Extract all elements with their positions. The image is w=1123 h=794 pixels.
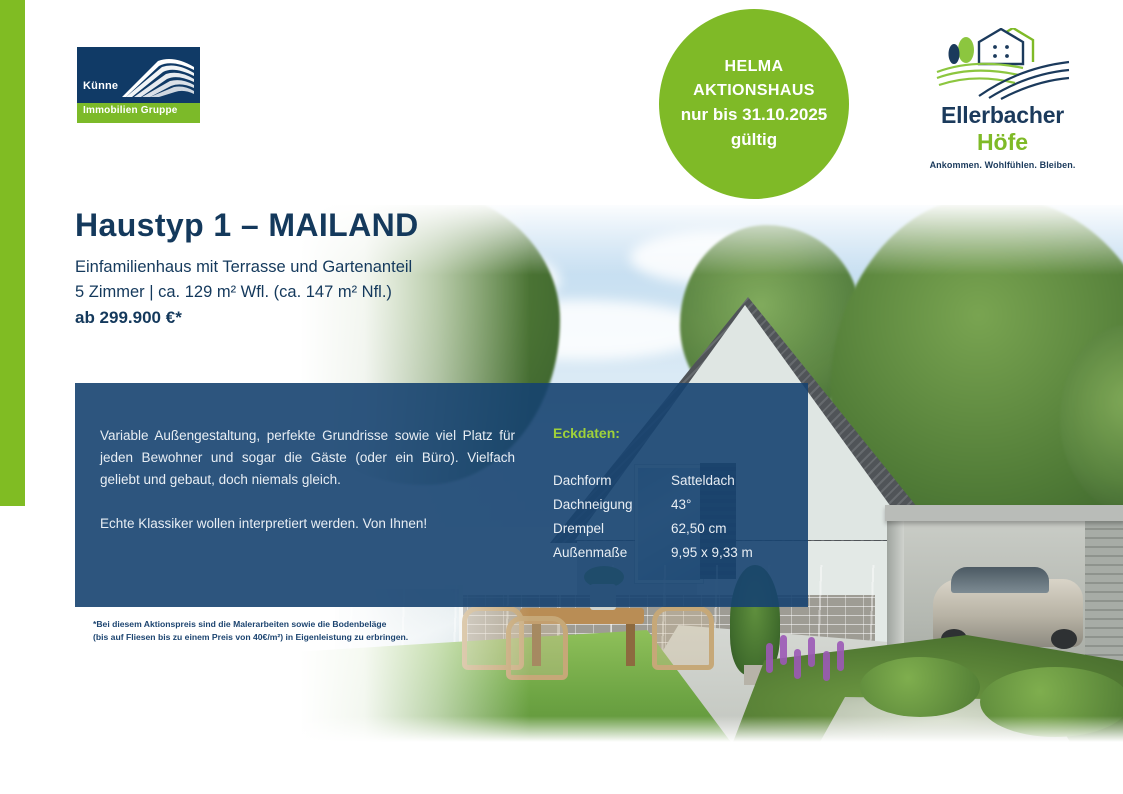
badge-line-4: gültig [731,131,777,149]
eckdaten-value: 9,95 x 9,33 m [671,541,753,565]
eckdaten-key: Dachneigung [553,493,671,517]
badge-line-1: HELMA [725,59,784,76]
flower [780,635,787,665]
ellerbacher-name-line1: Ellerbacher [921,102,1084,129]
photo-fade-bottom [300,716,1123,742]
ellerbacher-tagline: Ankommen. Wohlfühlen. Bleiben. [921,160,1084,170]
eckdaten-key: Außenmaße [553,541,671,565]
building-swoosh-icon [114,53,198,101]
description-paragraph-1: Variable Außengestaltung, perfekte Grund… [100,425,515,491]
eckdaten-table: Dachform Satteldach Dachneigung 43° Drem… [553,469,753,565]
carport-roof [885,505,1123,521]
description-text: Variable Außengestaltung, perfekte Grund… [100,425,515,534]
flower [766,643,773,673]
flyer-page: Künne Immobilien Gruppe HELMA AKTIONSHAU… [0,0,1123,794]
description-paragraph-2: Echte Klassiker wollen interpretiert wer… [100,513,515,535]
flower [808,637,815,667]
footnote: *Bei diesem Aktionspreis sind die Malera… [93,618,408,645]
ellerbacher-name-line2: Höfe [921,129,1084,156]
eckdaten-value: Satteldach [671,469,735,493]
eckdaten-title: Eckdaten: [553,425,620,441]
footnote-line-2: (bis auf Fliesen bis zu einem Preis von … [93,631,408,644]
badge-line-3: nur bis 31.10.2025 [681,106,827,124]
flower [837,641,844,671]
eckdaten-key: Dachform [553,469,671,493]
promo-badge[interactable]: HELMA AKTIONSHAUS nur bis 31.10.2025 gül… [659,9,849,199]
page-title: Haustyp 1 – MAILAND [75,207,419,244]
ellerbacher-hoefe-logo[interactable]: Ellerbacher Höfe Ankommen. Wohlfühlen. B… [921,28,1084,180]
table-row: Außenmaße 9,95 x 9,33 m [553,541,753,565]
house-specs: 5 Zimmer | ca. 129 m² Wfl. (ca. 147 m² N… [75,283,392,302]
house-subtitle: Einfamilienhaus mit Terrasse und Gartena… [75,258,412,277]
flower [794,649,801,679]
table-row: Drempel 62,50 cm [553,517,753,541]
eckdaten-value: 43° [671,493,691,517]
table-row: Dachform Satteldach [553,469,753,493]
kuenne-logo-subtitle: Immobilien Gruppe [83,105,178,116]
table-row: Dachneigung 43° [553,493,753,517]
flower [823,651,830,681]
car-windshield [951,567,1049,593]
garden-chair [652,606,714,670]
car-wheel [1051,629,1077,649]
info-panel: Variable Außengestaltung, perfekte Grund… [75,383,808,607]
kuenne-logo-name: Künne [83,80,118,92]
kuenne-logo[interactable]: Künne Immobilien Gruppe [77,47,200,123]
house-fields-icon [935,28,1071,100]
eckdaten-value: 62,50 cm [671,517,727,541]
footnote-line-1: *Bei diesem Aktionspreis sind die Malera… [93,618,408,631]
badge-line-2: AKTIONSHAUS [693,83,815,100]
house-price: ab 299.900 €* [75,308,182,328]
left-accent-bar [0,0,25,506]
eckdaten-key: Drempel [553,517,671,541]
table-leg [626,624,635,666]
shrub [860,657,980,717]
